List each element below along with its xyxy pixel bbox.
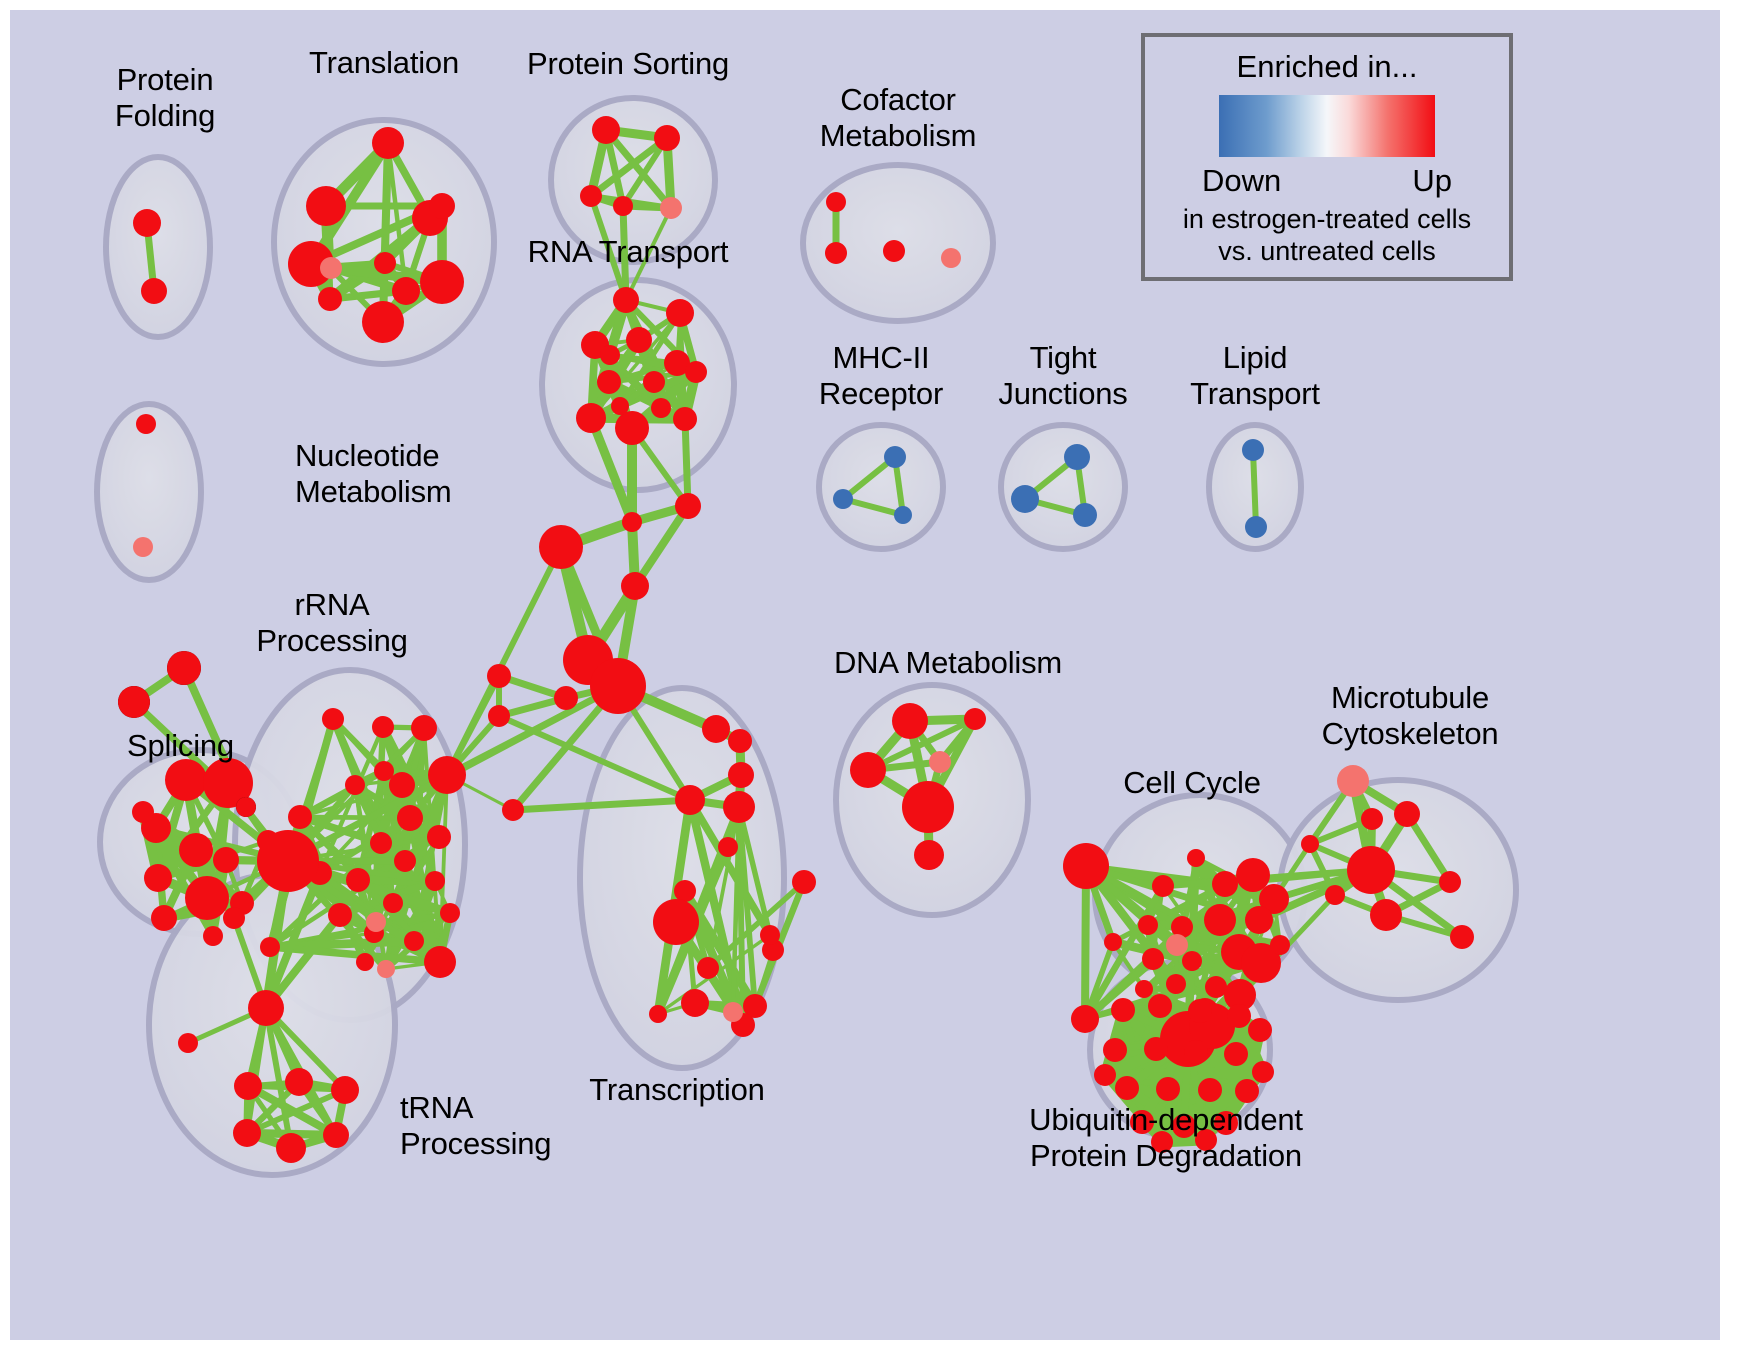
network-node (372, 716, 394, 738)
cluster-label-protein-folding: Protein Folding (115, 62, 215, 134)
cluster-label-mhc-ii-receptor: MHC-II Receptor (819, 340, 943, 412)
network-node (1064, 444, 1090, 470)
network-node (673, 407, 697, 431)
network-node (233, 1119, 261, 1147)
network-node (1103, 1038, 1127, 1062)
network-node (424, 946, 456, 978)
network-node (1111, 998, 1135, 1022)
network-node (592, 116, 620, 144)
cluster-label-microtubule-cytoskeleton: Microtubule Cytoskeleton (1322, 680, 1499, 752)
network-node (136, 414, 156, 434)
network-node (1205, 976, 1227, 998)
network-node (892, 703, 928, 739)
legend-caption-line2: vs. untreated cells (1218, 235, 1436, 267)
network-node (792, 870, 816, 894)
network-node (276, 1133, 306, 1163)
legend-low-label: Down (1202, 163, 1281, 199)
network-node (674, 880, 696, 902)
network-node (1142, 948, 1164, 970)
network-node (894, 506, 912, 524)
network-node (257, 830, 319, 892)
legend-high-label: Up (1412, 163, 1452, 199)
network-node (1156, 1077, 1180, 1101)
network-node (1071, 1005, 1099, 1033)
cluster-label-dna-metabolism: DNA Metabolism (834, 645, 1062, 681)
network-node (323, 1122, 349, 1148)
network-node (1450, 925, 1474, 949)
network-node (883, 240, 905, 262)
network-canvas: Protein FoldingTranslationNucleotide Met… (10, 10, 1720, 1340)
network-node (133, 537, 153, 557)
network-node (389, 772, 415, 798)
network-node (404, 931, 424, 951)
network-node (377, 960, 395, 978)
network-node (1115, 1076, 1139, 1100)
network-node (685, 361, 707, 383)
cluster-label-translation: Translation (309, 45, 459, 81)
network-node (1148, 994, 1172, 1018)
network-node (826, 192, 846, 212)
network-node (728, 729, 752, 753)
network-node (651, 398, 671, 418)
network-node (1184, 1040, 1208, 1064)
network-node (660, 197, 682, 219)
network-node (681, 989, 709, 1017)
network-node (502, 799, 524, 821)
cluster-hull-protein-folding (106, 157, 210, 337)
network-node (429, 193, 455, 219)
cluster-label-tight-junctions: Tight Junctions (998, 340, 1127, 412)
network-node (440, 903, 460, 923)
network-node (1152, 875, 1174, 897)
network-node (697, 957, 719, 979)
network-node (236, 797, 256, 817)
network-node (411, 715, 437, 741)
cluster-label-ubiquitin-protein-degradation: Ubiquitin-dependent Protein Degradation (1029, 1102, 1303, 1174)
network-node (260, 937, 280, 957)
legend-panel: Enriched in... Down Up in estrogen-treat… (1141, 33, 1513, 281)
network-node (1439, 871, 1461, 893)
network-node (203, 926, 223, 946)
network-node (1370, 899, 1402, 931)
figure-root: Protein FoldingTranslationNucleotide Met… (0, 0, 1750, 1360)
network-node (1204, 904, 1236, 936)
network-edge (685, 419, 688, 506)
network-node (392, 277, 420, 305)
network-node (675, 493, 701, 519)
network-node (427, 825, 451, 849)
network-node (1224, 1042, 1248, 1066)
network-node (151, 905, 177, 931)
cluster-label-cofactor-metabolism: Cofactor Metabolism (820, 82, 977, 154)
network-node (1394, 801, 1420, 827)
cluster-hull-mhc-ii-receptor (819, 425, 943, 549)
network-node (306, 186, 346, 226)
network-node (833, 489, 853, 509)
cluster-label-rna-transport: RNA Transport (528, 234, 729, 270)
network-node (328, 903, 352, 927)
network-node (179, 833, 213, 867)
network-node (1144, 1037, 1168, 1061)
cluster-label-trna-processing: tRNA Processing (400, 1090, 551, 1162)
network-node (653, 899, 699, 945)
network-node (356, 953, 374, 971)
network-node (1166, 974, 1186, 994)
network-node (118, 686, 150, 718)
network-node (702, 715, 730, 743)
network-node (1347, 846, 1395, 894)
network-node (1301, 835, 1319, 853)
cluster-label-nucleotide-metabolism: Nucleotide Metabolism (295, 438, 452, 510)
network-node (825, 242, 847, 264)
network-node (167, 651, 201, 685)
network-node (654, 125, 680, 151)
network-node (1227, 1004, 1251, 1028)
legend-title: Enriched in... (1237, 49, 1418, 85)
cluster-label-transcription: Transcription (589, 1072, 764, 1108)
network-node (1245, 516, 1267, 538)
network-node (580, 185, 602, 207)
network-node (964, 708, 986, 730)
network-node (288, 805, 312, 829)
network-node (718, 837, 738, 857)
network-node (366, 912, 386, 932)
network-node (248, 990, 284, 1026)
network-node (1198, 1078, 1222, 1102)
network-node (760, 925, 780, 945)
network-node (397, 805, 423, 831)
legend-color-bar (1219, 95, 1435, 157)
network-node (666, 299, 694, 327)
network-node (133, 209, 161, 237)
network-node (622, 512, 642, 532)
network-node (1242, 439, 1264, 461)
network-node (1270, 935, 1290, 955)
network-node (941, 248, 961, 268)
network-node (132, 801, 154, 823)
network-node (914, 840, 944, 870)
network-node (165, 759, 207, 801)
network-node (1212, 871, 1238, 897)
network-node (1063, 843, 1109, 889)
network-node (621, 572, 649, 600)
cluster-label-splicing: Splicing (127, 728, 234, 764)
network-node (144, 864, 172, 892)
network-node (850, 752, 886, 788)
cluster-label-lipid-transport: Lipid Transport (1190, 340, 1320, 412)
network-node (213, 847, 239, 873)
cluster-label-protein-sorting: Protein Sorting (527, 46, 729, 82)
network-node (1248, 1018, 1272, 1042)
network-node (613, 287, 639, 313)
network-node (1252, 1061, 1274, 1083)
network-node (374, 252, 396, 274)
network-node (374, 761, 394, 781)
network-node (902, 781, 954, 833)
network-node (1337, 765, 1369, 797)
network-node (1166, 934, 1188, 956)
network-node (613, 196, 633, 216)
network-node (420, 260, 464, 304)
network-node (728, 762, 754, 788)
network-node (626, 327, 652, 353)
network-node (318, 287, 342, 311)
network-node (539, 525, 583, 569)
network-node (1187, 849, 1205, 867)
network-node (1135, 980, 1153, 998)
network-node (600, 345, 620, 365)
network-node (372, 127, 404, 159)
network-node (1011, 485, 1039, 513)
network-node (425, 871, 445, 891)
network-node (643, 371, 665, 393)
network-node (723, 791, 755, 823)
network-node (1325, 885, 1345, 905)
network-node (331, 1076, 359, 1104)
network-node (590, 658, 646, 714)
network-node (554, 686, 578, 710)
network-node (1236, 858, 1270, 892)
legend-caption-line1: in estrogen-treated cells (1183, 203, 1471, 235)
network-node (1235, 1079, 1259, 1103)
network-node (1361, 808, 1383, 830)
network-node (576, 403, 606, 433)
network-node (487, 664, 511, 688)
network-node (611, 397, 629, 415)
network-node (383, 893, 403, 913)
network-node (1182, 951, 1202, 971)
network-node (178, 1033, 198, 1053)
network-node (346, 868, 370, 892)
network-node (1245, 906, 1273, 934)
network-edge (300, 817, 410, 818)
network-node (1073, 503, 1097, 527)
cluster-label-rrna-processing: rRNA Processing (256, 587, 407, 659)
network-node (1094, 1064, 1116, 1086)
network-node (884, 446, 906, 468)
network-node (929, 751, 951, 773)
network-node (370, 832, 392, 854)
network-node (615, 411, 649, 445)
network-node (362, 301, 404, 343)
network-node (597, 370, 621, 394)
network-node (1138, 915, 1158, 935)
network-node (488, 705, 510, 727)
network-node (1188, 999, 1212, 1023)
network-node (185, 876, 229, 920)
network-node (649, 1005, 667, 1023)
network-node (141, 278, 167, 304)
network-node (675, 785, 705, 815)
network-node (322, 708, 344, 730)
network-node (394, 850, 416, 872)
network-node (428, 756, 466, 794)
network-node (723, 1002, 743, 1022)
network-node (234, 1072, 262, 1100)
network-node (223, 907, 245, 929)
network-edge (1253, 450, 1256, 527)
network-node (345, 775, 365, 795)
network-node (320, 257, 342, 279)
cluster-label-cell-cycle: Cell Cycle (1123, 765, 1261, 801)
network-node (1104, 933, 1122, 951)
network-node (285, 1068, 313, 1096)
